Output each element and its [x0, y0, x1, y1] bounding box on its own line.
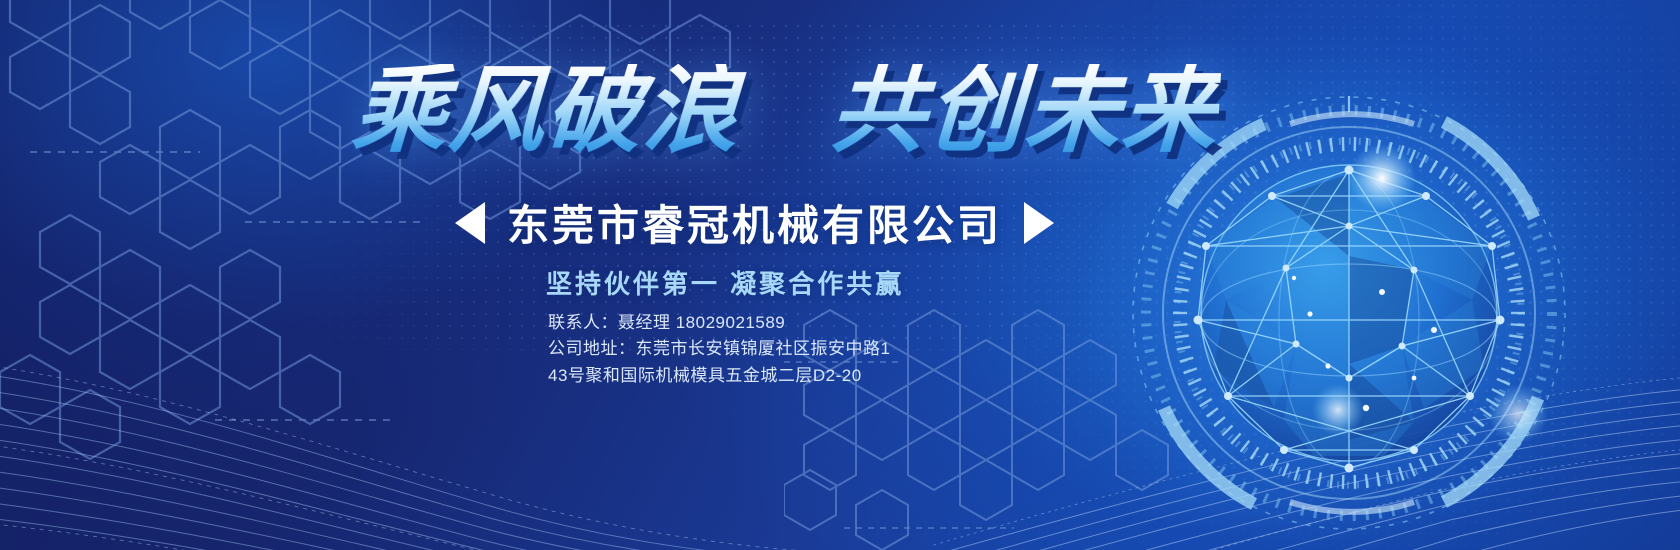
company-name: 东莞市睿冠机械有限公司	[507, 192, 1002, 253]
tagline: 坚持伙伴第一 凝聚合作共赢	[546, 264, 904, 301]
headline-part-2: 共创未来	[828, 58, 1222, 164]
company-name-row: 东莞市睿冠机械有限公司	[455, 192, 1054, 253]
page-title: 乘风破浪 共创未来	[350, 64, 1222, 159]
promotional-banner: 乘风破浪 共创未来 东莞市睿冠机械有限公司 坚持伙伴第一 凝聚合作共赢 联系人：…	[0, 0, 1680, 550]
contact-person-row: 联系人： 聂经理 18029021589	[548, 310, 893, 336]
contact-address-row: 公司地址：东莞市长安镇锦厦社区振安中路143号聚和国际机械模具五金城二层D2-2…	[548, 336, 893, 389]
headline-part-1: 乘风破浪	[349, 58, 743, 164]
contact-person-label: 联系人：	[548, 310, 618, 336]
globe-hotspot-top	[1348, 144, 1416, 212]
contact-block: 联系人： 聂经理 18029021589 公司地址：东莞市长安镇锦厦社区振安中路…	[548, 310, 893, 389]
contact-person-value: 聂经理 18029021589	[618, 310, 785, 336]
globe-hotspot-bottom	[1312, 384, 1364, 436]
triangle-left-icon	[455, 202, 485, 244]
contact-address-label: 公司地址：	[548, 339, 636, 358]
triangle-right-icon	[1024, 202, 1054, 244]
